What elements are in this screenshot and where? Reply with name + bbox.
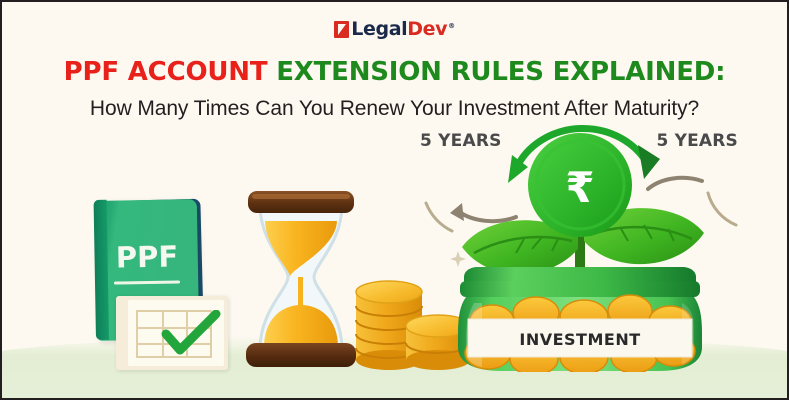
page-title: PPF ACCOUNT EXTENSION RULES EXPLAINED: <box>2 58 787 87</box>
title-highlight-red: PPF ACCOUNT <box>64 57 277 87</box>
logo-text-secondary: Dev <box>407 18 447 40</box>
brand-logo[interactable]: LegalDev® <box>2 20 787 39</box>
logo-text-primary: Legal <box>351 18 407 40</box>
logo-text: LegalDev® <box>351 20 454 39</box>
book-title-label: PPF <box>96 239 199 275</box>
cycle-label-right: 5 YEARS <box>656 131 738 151</box>
rupee-symbol-icon: ₹ <box>565 163 594 212</box>
right-illustration-group: ₹ INVESTMENT <box>412 107 752 372</box>
checkmark-icon <box>160 310 222 358</box>
left-illustration-group: PPF <box>62 130 442 370</box>
hourglass-icon <box>242 185 360 370</box>
legaldev-logo-mark-icon <box>334 21 349 38</box>
cycle-label-left: 5 YEARS <box>420 131 502 151</box>
jar-label-text: INVESTMENT <box>519 330 640 349</box>
title-highlight-green: EXTENSION RULES EXPLAINED: <box>276 57 725 87</box>
ppf-article-banner: LegalDev® PPF ACCOUNT EXTENSION RULES EX… <box>0 0 789 400</box>
registered-trademark-icon: ® <box>448 22 455 30</box>
